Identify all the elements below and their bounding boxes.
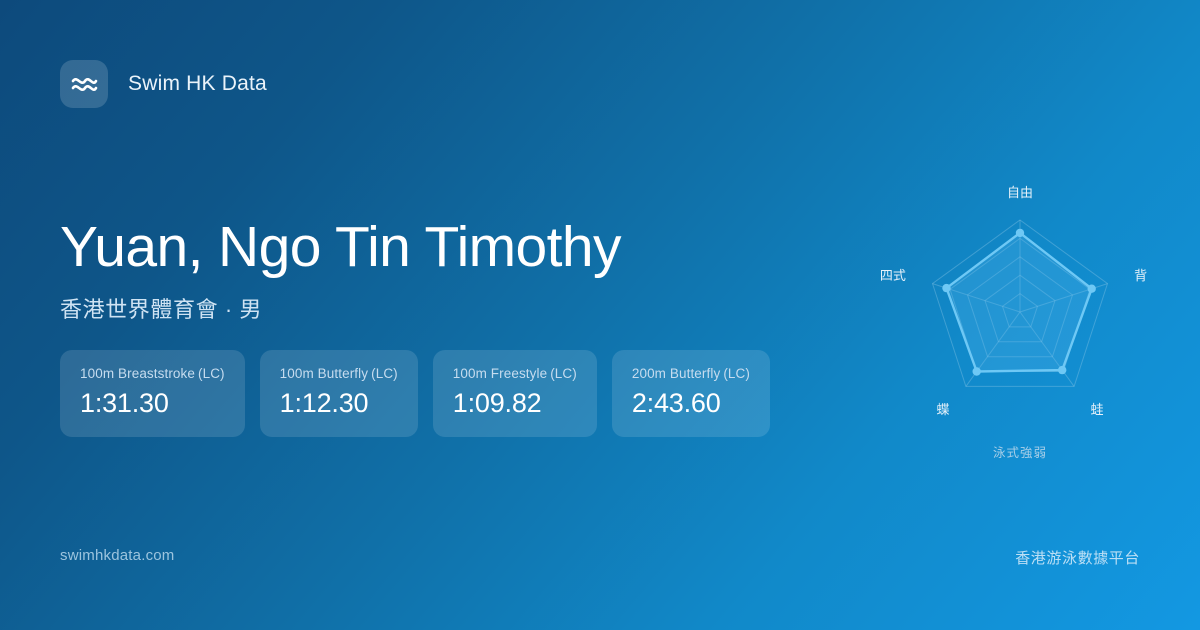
stat-card[interactable]: 100m Freestyle(LC) 1:09.82	[433, 350, 597, 437]
radar-chart: 自由背蛙蝶四式 泳式強弱	[870, 170, 1170, 470]
stat-card-course: (LC)	[550, 366, 577, 381]
brand-header[interactable]: Swim HK Data	[60, 60, 267, 108]
stat-card-time: 1:09.82	[453, 388, 577, 419]
stat-card-course: (LC)	[198, 366, 225, 381]
stat-card[interactable]: 100m Breaststroke(LC) 1:31.30	[60, 350, 245, 437]
stat-card-list: 100m Breaststroke(LC) 1:31.30 100m Butte…	[60, 350, 770, 437]
stat-card-time: 1:12.30	[280, 388, 398, 419]
footer-tagline: 香港游泳數據平台	[1015, 547, 1140, 568]
stat-card-label: 200m Butterfly(LC)	[632, 366, 750, 381]
stat-card-event: 100m Breaststroke	[80, 366, 195, 381]
svg-text:自由: 自由	[1007, 186, 1033, 201]
stat-card-time: 1:31.30	[80, 388, 225, 419]
radar-series-area	[947, 233, 1092, 372]
stat-card-label: 100m Breaststroke(LC)	[80, 366, 225, 381]
svg-text:四式: 四式	[880, 269, 906, 284]
stat-card-course: (LC)	[371, 366, 398, 381]
stat-card-label: 100m Freestyle(LC)	[453, 366, 577, 381]
brand-name: Swim HK Data	[128, 72, 267, 96]
footer-site-url[interactable]: swimhkdata.com	[60, 547, 175, 564]
stat-card-label: 100m Butterfly(LC)	[280, 366, 398, 381]
stat-card-event: 100m Freestyle	[453, 366, 547, 381]
page-title: Yuan, Ngo Tin Timothy	[60, 218, 621, 278]
radar-caption: 泳式強弱	[870, 442, 1170, 461]
svg-text:蝶: 蝶	[936, 403, 949, 418]
stat-card-time: 2:43.60	[632, 388, 750, 419]
wave-icon	[60, 60, 108, 108]
stat-card-course: (LC)	[723, 366, 750, 381]
stat-card[interactable]: 200m Butterfly(LC) 2:43.60	[612, 350, 770, 437]
hero-section: Yuan, Ngo Tin Timothy 香港世界體育會 · 男	[60, 218, 621, 324]
stat-card-event: 100m Butterfly	[280, 366, 368, 381]
stat-card-event: 200m Butterfly	[632, 366, 720, 381]
stat-card[interactable]: 100m Butterfly(LC) 1:12.30	[260, 350, 418, 437]
svg-text:背: 背	[1134, 269, 1147, 284]
svg-text:蛙: 蛙	[1091, 403, 1104, 418]
athlete-meta: 香港世界體育會 · 男	[60, 292, 621, 324]
